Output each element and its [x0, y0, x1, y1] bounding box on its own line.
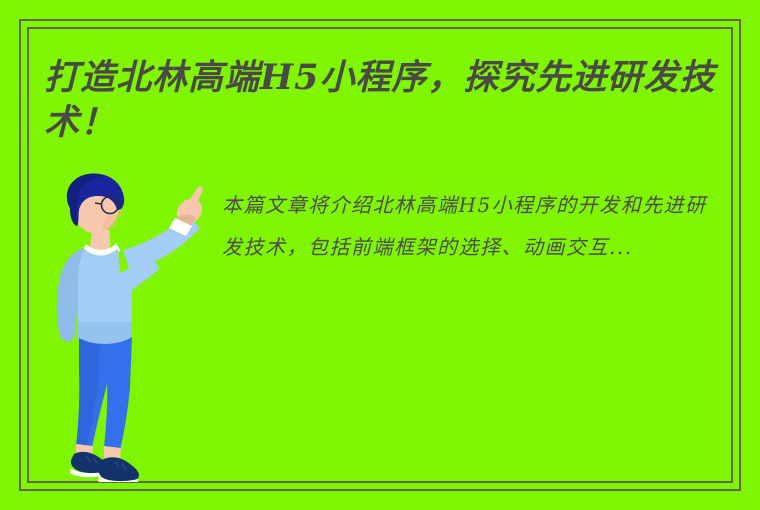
article-banner: 打造北林高端H5小程序，探究先进研发技术！ 本篇文章将介绍北林高端H5小程序的开… [0, 0, 760, 510]
pants-shape [76, 337, 132, 450]
banner-summary: 本篇文章将介绍北林高端H5小程序的开发和先进研发技术，包括前端框架的选择、动画交… [222, 184, 722, 268]
head-group [67, 173, 124, 251]
man-pointing-up-illustration [48, 172, 218, 482]
pointing-hand [177, 186, 203, 226]
sweater-shape [57, 248, 160, 346]
banner-title: 打造北林高端H5小程序，探究先进研发技术！ [44, 55, 744, 145]
